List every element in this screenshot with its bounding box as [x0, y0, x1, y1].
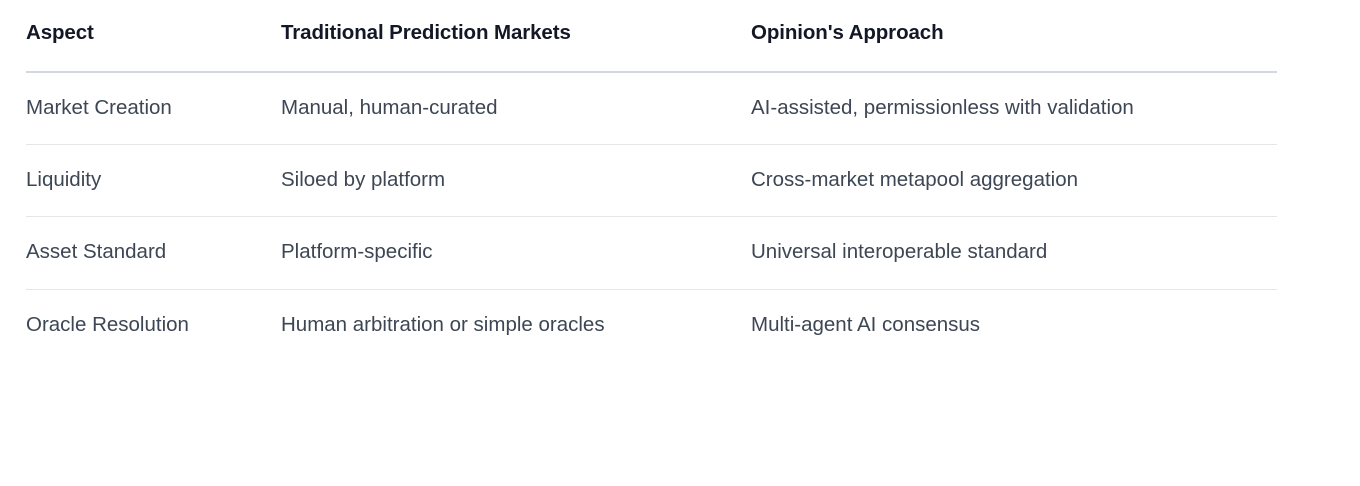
- cell-traditional: Platform-specific: [281, 217, 751, 289]
- table-header: Aspect Traditional Prediction Markets Op…: [26, 0, 1277, 72]
- table-row: Oracle Resolution Human arbitration or s…: [26, 289, 1277, 361]
- comparison-table-container: Aspect Traditional Prediction Markets Op…: [26, 0, 1277, 361]
- cell-traditional: Siloed by platform: [281, 145, 751, 217]
- comparison-table: Aspect Traditional Prediction Markets Op…: [26, 0, 1277, 361]
- cell-opinion: Multi-agent AI consensus: [751, 289, 1277, 361]
- cell-traditional: Human arbitration or simple oracles: [281, 289, 751, 361]
- cell-traditional: Manual, human-curated: [281, 72, 751, 145]
- column-header-aspect: Aspect: [26, 0, 281, 72]
- cell-opinion: Universal interoperable standard: [751, 217, 1277, 289]
- column-header-opinions-approach: Opinion's Approach: [751, 0, 1277, 72]
- column-header-traditional-prediction-markets: Traditional Prediction Markets: [281, 0, 751, 72]
- cell-aspect: Asset Standard: [26, 217, 281, 289]
- cell-aspect: Liquidity: [26, 145, 281, 217]
- table-row: Asset Standard Platform-specific Univers…: [26, 217, 1277, 289]
- cell-aspect: Oracle Resolution: [26, 289, 281, 361]
- cell-opinion: Cross-market metapool aggregation: [751, 145, 1277, 217]
- table-header-row: Aspect Traditional Prediction Markets Op…: [26, 0, 1277, 72]
- cell-aspect: Market Creation: [26, 72, 281, 145]
- cell-opinion: AI-assisted, permissionless with validat…: [751, 72, 1277, 145]
- table-row: Liquidity Siloed by platform Cross-marke…: [26, 145, 1277, 217]
- table-row: Market Creation Manual, human-curated AI…: [26, 72, 1277, 145]
- table-body: Market Creation Manual, human-curated AI…: [26, 72, 1277, 361]
